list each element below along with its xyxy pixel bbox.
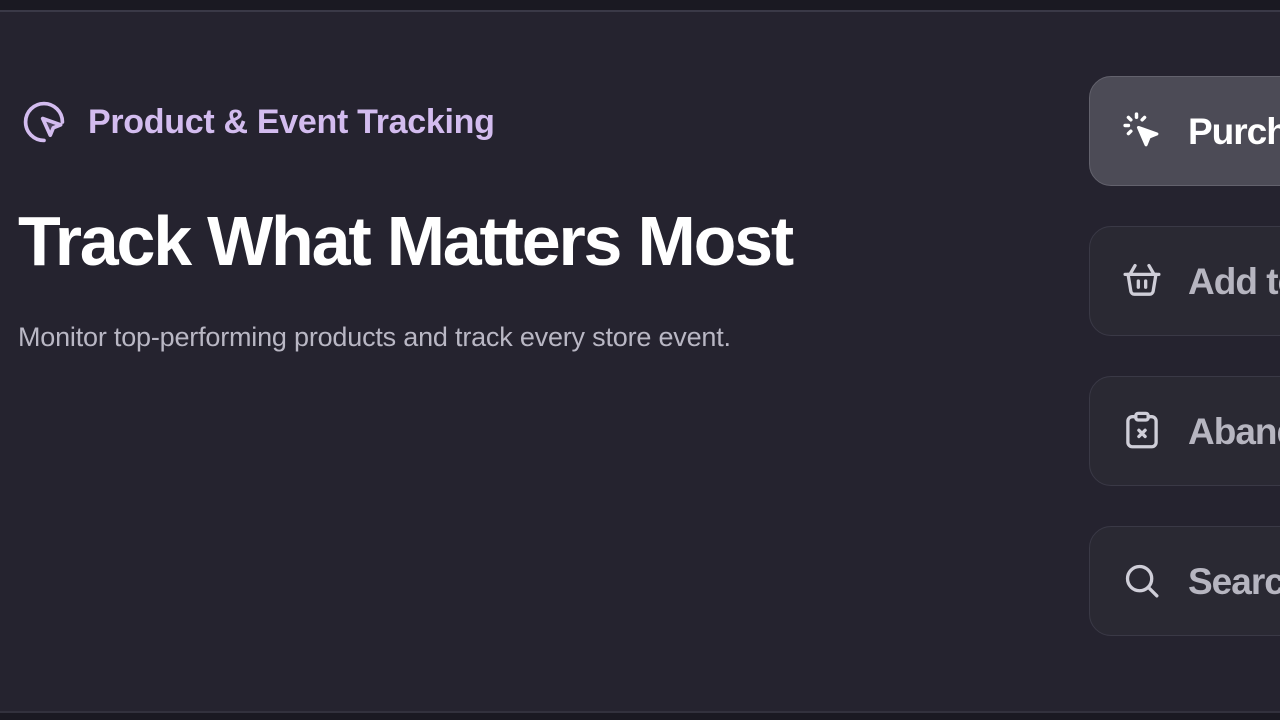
cursor-circle-icon — [18, 96, 70, 148]
eyebrow-label: Product & Event Tracking — [88, 105, 495, 139]
top-divider — [0, 10, 1280, 12]
eyebrow: Product & Event Tracking — [18, 92, 918, 152]
event-card-rail: Purchase Add to Cart — [1089, 76, 1280, 676]
hero-subcopy: Monitor top-performing products and trac… — [18, 318, 848, 356]
event-card-search[interactable]: Search — [1089, 526, 1280, 636]
page-title: Track What Matters Most — [18, 206, 918, 276]
event-card-label: Add to Cart — [1188, 263, 1280, 300]
hero-copy-block: Product & Event Tracking Track What Matt… — [18, 92, 918, 356]
event-card-label: Search — [1188, 563, 1280, 600]
mouse-pointer-click-icon — [1120, 109, 1164, 153]
hero-section: Product & Event Tracking Track What Matt… — [0, 0, 1280, 720]
bottom-chrome-strip — [0, 713, 1280, 720]
search-icon — [1120, 559, 1164, 603]
event-card-purchase[interactable]: Purchase — [1089, 76, 1280, 186]
event-card-label: Abandoned Cart — [1188, 413, 1280, 450]
event-card-abandoned-cart[interactable]: Abandoned Cart — [1089, 376, 1280, 486]
top-chrome-strip — [0, 0, 1280, 10]
event-card-label: Purchase — [1188, 113, 1280, 150]
shopping-basket-icon — [1120, 259, 1164, 303]
event-card-add-to-cart[interactable]: Add to Cart — [1089, 226, 1280, 336]
clipboard-x-icon — [1120, 409, 1164, 453]
